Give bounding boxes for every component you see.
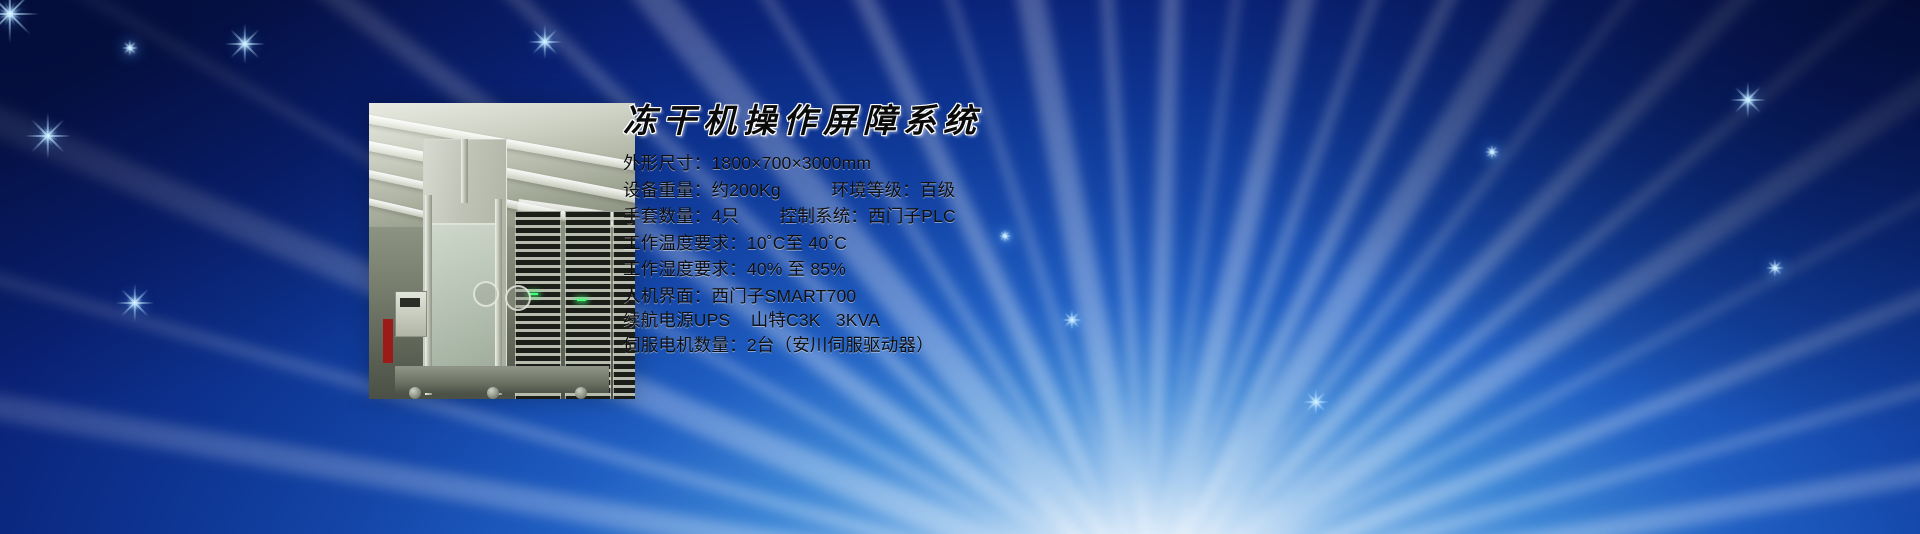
spec-humidity: 工作湿度要求：40% 至 85%: [623, 261, 1323, 279]
photo-caster-wheel: [487, 387, 499, 399]
spec-temperature: 工作温度要求：10˚C至 40˚C: [623, 235, 1323, 253]
photo-indicator-light: [577, 299, 586, 301]
spec-gloves-and-plc: 手套数量：4只 控制系统：西门子PLC: [623, 208, 1323, 226]
photo-porthole: [505, 285, 531, 311]
spec-dimensions: 外形尺寸：1800×700×3000mm: [623, 155, 1323, 173]
photo-frame-post: [461, 139, 468, 203]
photo-panel-screen: [400, 298, 420, 307]
spec-hmi: 人机界面：西门子SMART700: [623, 288, 1323, 306]
page-title: 冻干机操作屏障系统: [623, 100, 1323, 141]
photo-red-marker: [383, 319, 393, 363]
spec-servo: 伺服电机数量：2台（安川伺服驱动器）: [623, 337, 1323, 355]
spec-ups: 续航电源UPS 山特C3K 3KVA: [623, 312, 1323, 330]
photo-control-panel: [395, 291, 427, 337]
photo-porthole: [473, 281, 499, 307]
promo-banner: 冻干机操作屏障系统 外形尺寸：1800×700×3000mm设备重量：约200K…: [0, 0, 1920, 534]
text-block: 冻干机操作屏障系统 外形尺寸：1800×700×3000mm设备重量：约200K…: [623, 100, 1323, 361]
photo-caster-wheel: [409, 387, 421, 399]
product-photo: [369, 103, 635, 399]
photo-caster-wheel: [575, 387, 587, 399]
spec-weight-and-class: 设备重量：约200Kg 环境等级：百级: [623, 182, 1323, 200]
spec-list: 外形尺寸：1800×700×3000mm设备重量：约200Kg 环境等级：百级手…: [623, 155, 1323, 354]
